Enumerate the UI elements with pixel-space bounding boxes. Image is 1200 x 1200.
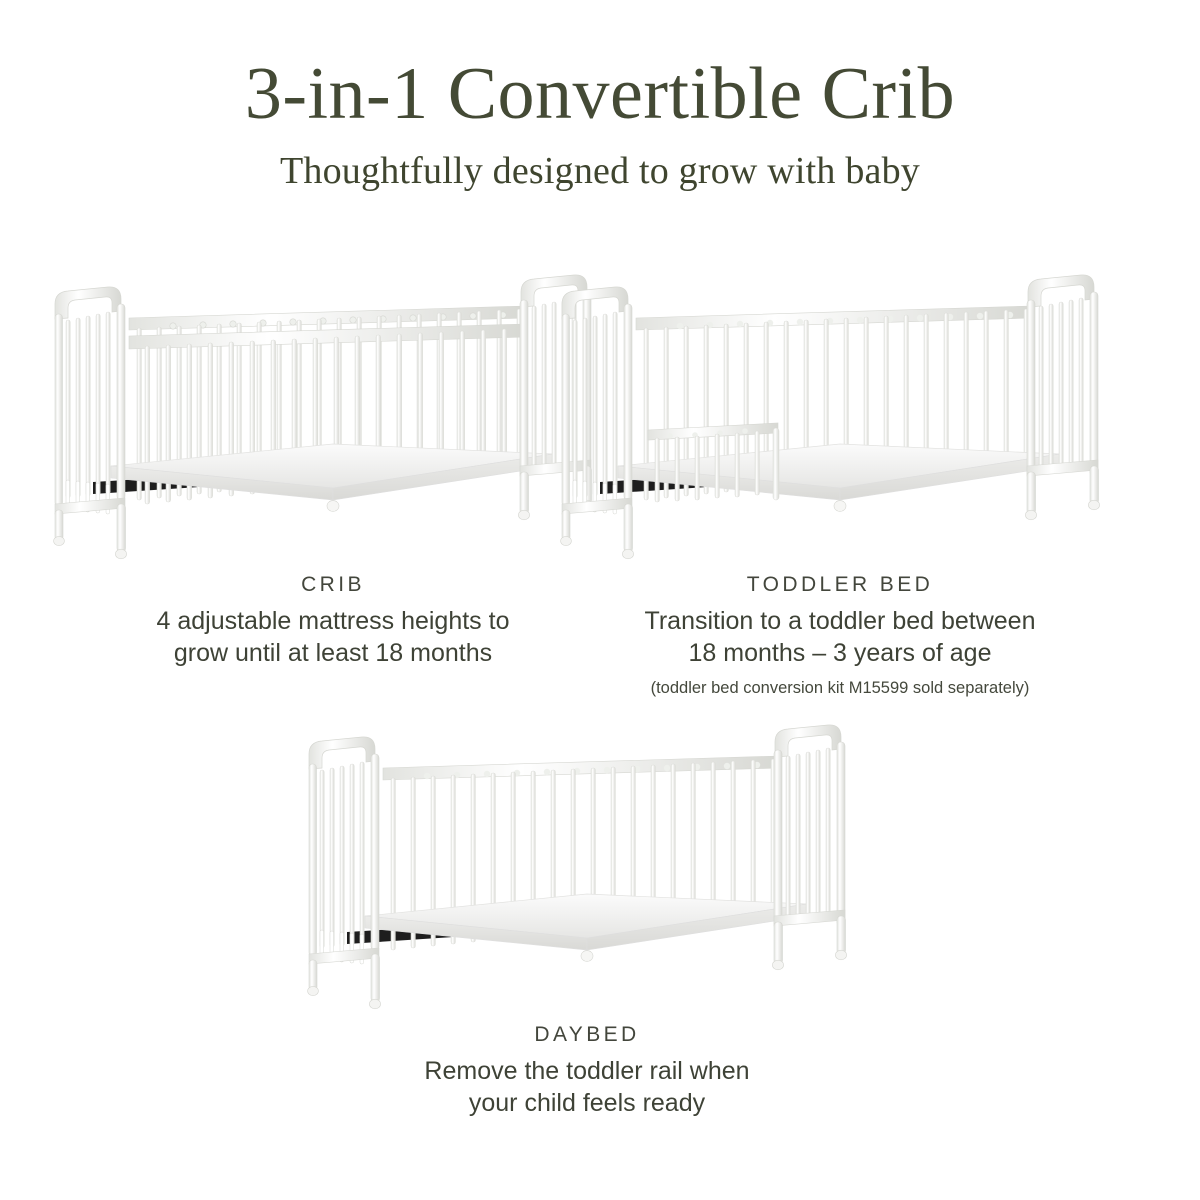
panel-toddler-bed: TODDLER BED Transition to a toddler bed … bbox=[540, 258, 1140, 700]
right-end-panel bbox=[772, 725, 846, 970]
center-support-knob bbox=[834, 501, 846, 512]
caption-line: Transition to a toddler bed between bbox=[540, 606, 1140, 637]
infographic-page: 3-in-1 Convertible Crib Thoughtfully des… bbox=[0, 0, 1200, 1200]
daybed-svg bbox=[287, 708, 887, 1018]
right-end-panel bbox=[1025, 275, 1099, 520]
toddler-bed-illustration bbox=[540, 258, 1140, 568]
left-end-panel bbox=[308, 737, 381, 1009]
caption-toddler-bed: TODDLER BED Transition to a toddler bed … bbox=[540, 572, 1140, 700]
caption-label: TODDLER BED bbox=[540, 572, 1140, 597]
page-subtitle: Thoughtfully designed to grow with baby bbox=[0, 151, 1200, 193]
caption-label: DAYBED bbox=[287, 1022, 887, 1047]
left-end-panel bbox=[54, 287, 127, 559]
header: 3-in-1 Convertible Crib Thoughtfully des… bbox=[0, 56, 1200, 193]
caption-line: Remove the toddler rail when bbox=[287, 1056, 887, 1087]
back-rail bbox=[636, 306, 1032, 330]
back-rail bbox=[383, 756, 779, 780]
left-end-panel bbox=[561, 287, 634, 559]
panel-daybed: DAYBED Remove the toddler rail when your… bbox=[287, 708, 887, 1119]
center-support-knob bbox=[581, 951, 593, 962]
caption-fine-print: (toddler bed conversion kit M15599 sold … bbox=[540, 678, 1140, 699]
center-support-knob bbox=[327, 501, 339, 512]
daybed-illustration bbox=[287, 708, 887, 1018]
caption-daybed: DAYBED Remove the toddler rail when your… bbox=[287, 1022, 887, 1119]
caption-line: 18 months – 3 years of age bbox=[540, 638, 1140, 669]
caption-line: your child feels ready bbox=[287, 1088, 887, 1119]
page-title: 3-in-1 Convertible Crib bbox=[0, 56, 1200, 133]
toddler-bed-svg bbox=[540, 258, 1140, 568]
